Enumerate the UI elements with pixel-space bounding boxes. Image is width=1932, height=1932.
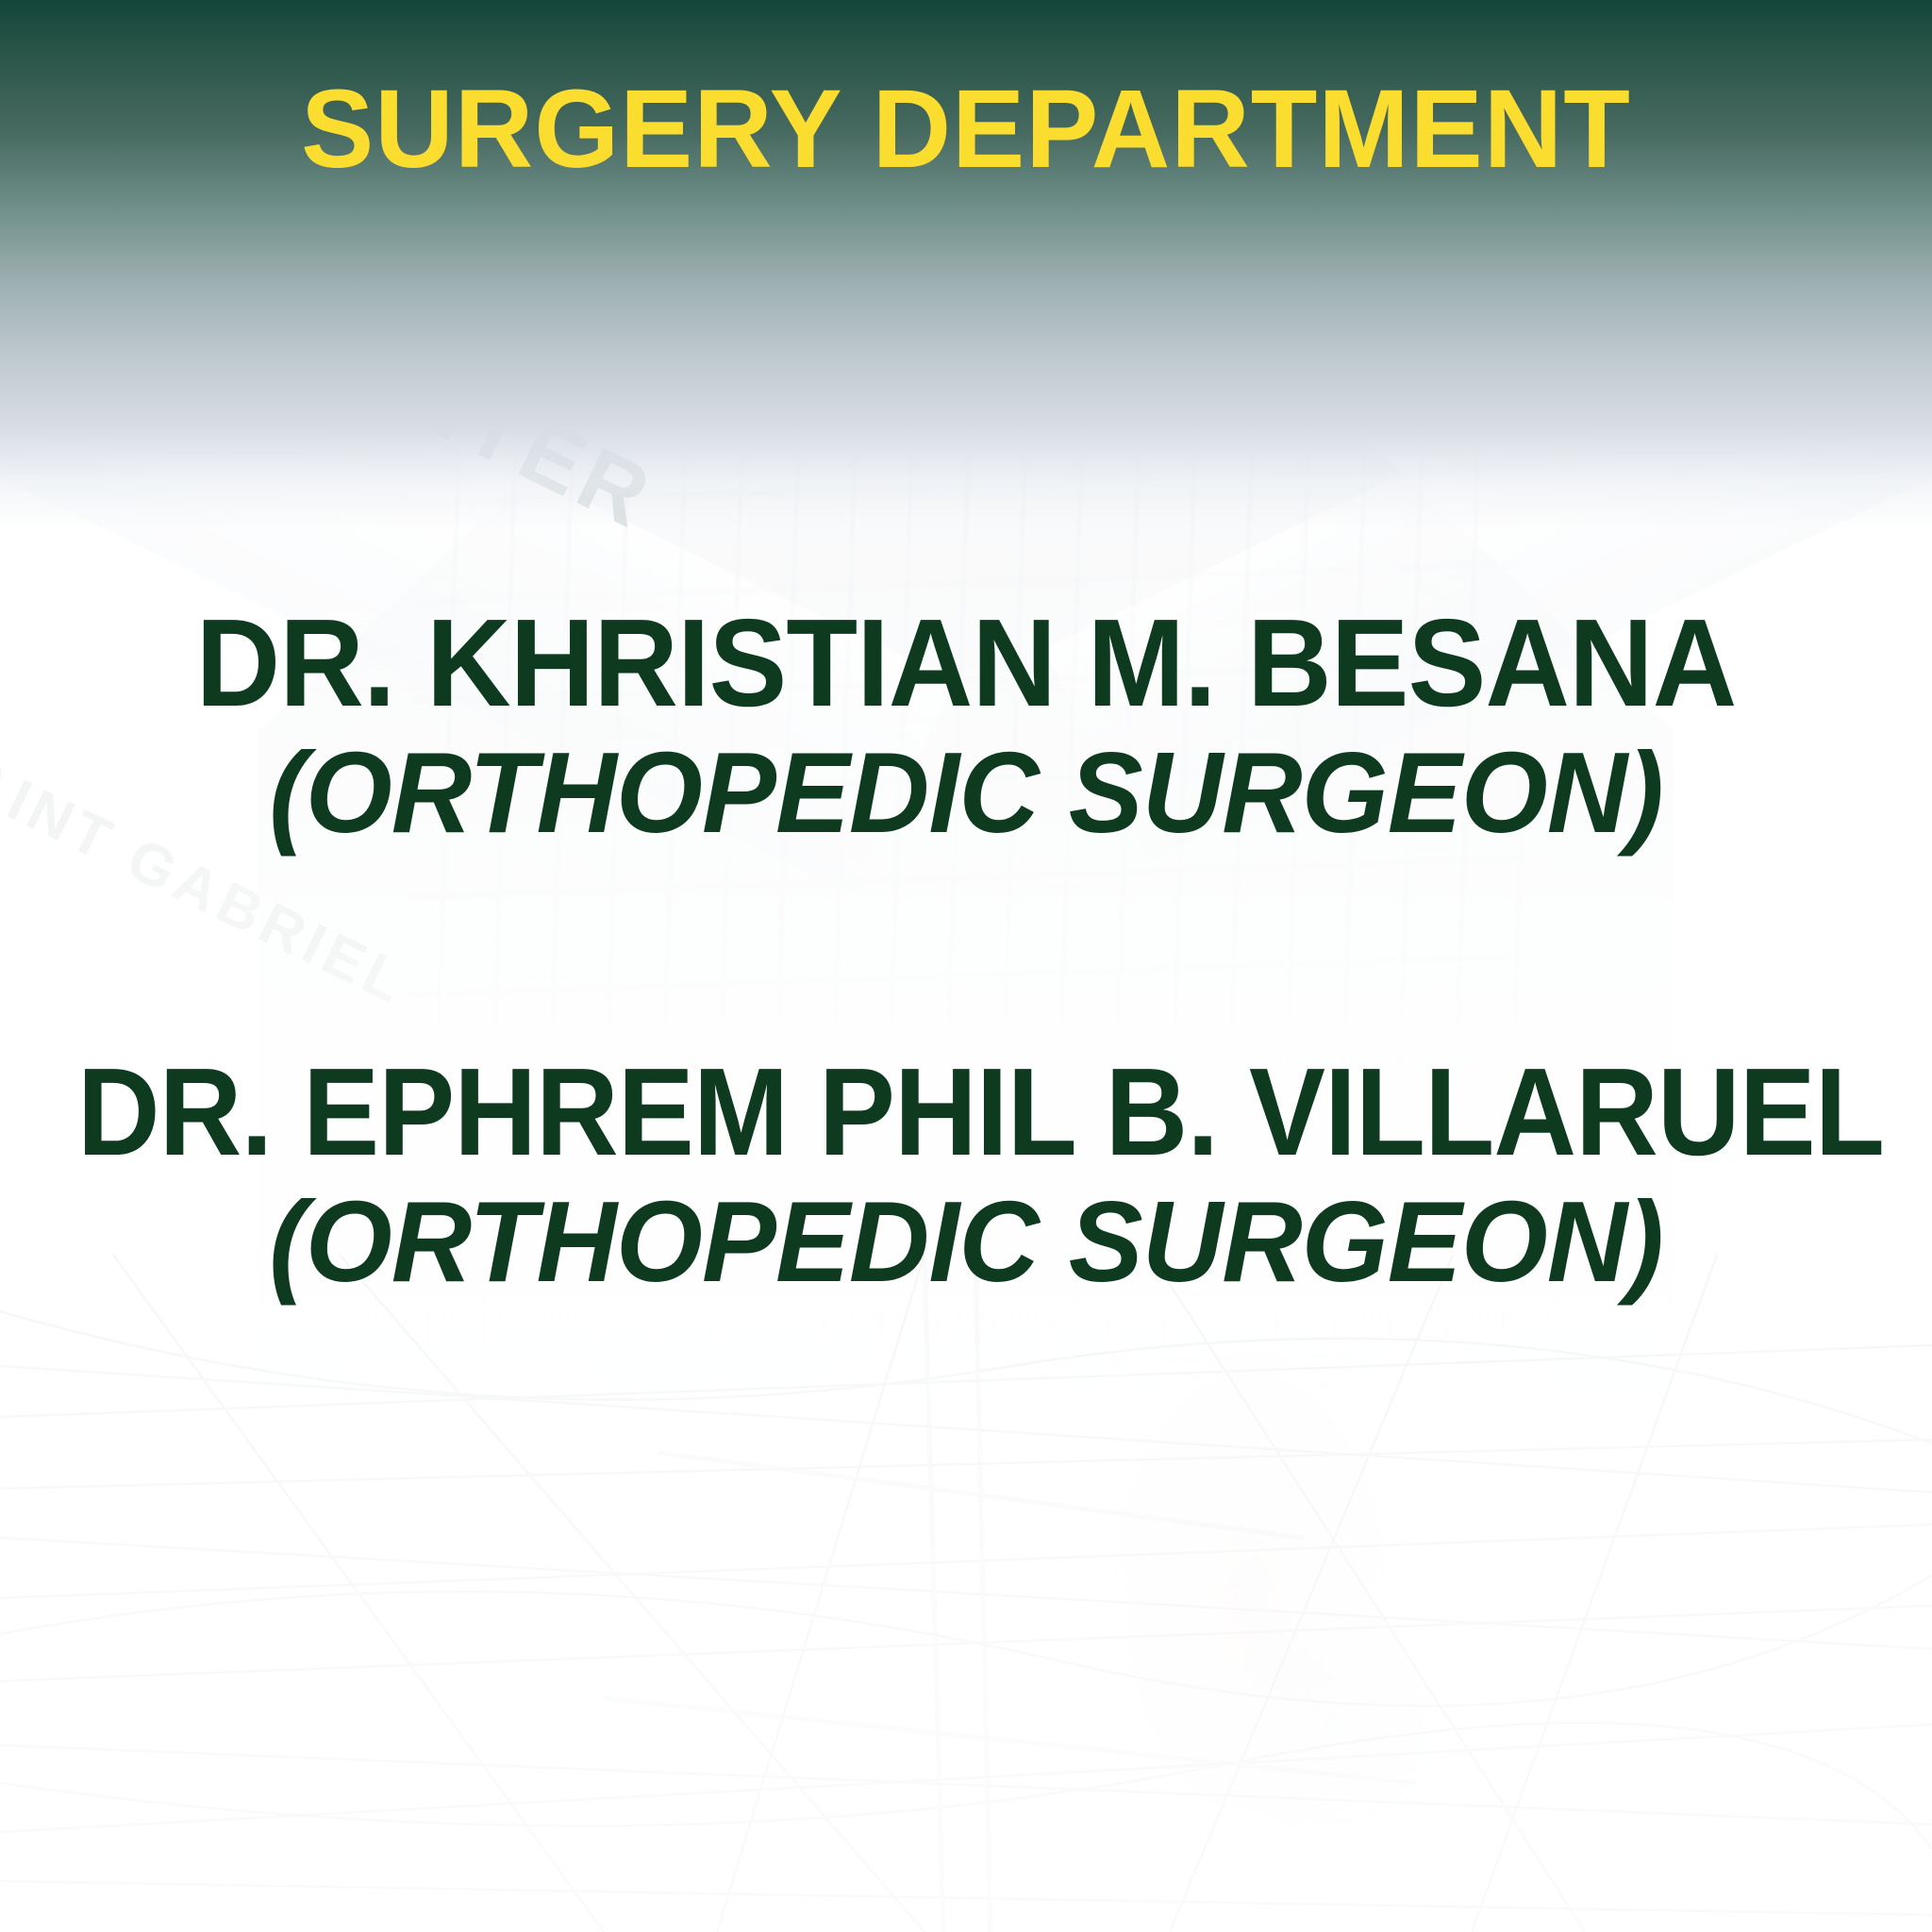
poster-content: SURGERY DEPARTMENT DR. KHRISTIAN M. BESA… xyxy=(0,0,1932,1932)
surgery-department-poster: CENTER SAINT GABRIEL SGMC xyxy=(0,0,1932,1932)
doctor-name: DR. EPHREM PHIL B. VILLARUEL xyxy=(77,1049,1855,1176)
doctor-entry-1: DR. KHRISTIAN M. BESANA (ORTHOPEDIC SURG… xyxy=(0,600,1932,855)
department-title: SURGERY DEPARTMENT xyxy=(19,74,1912,185)
doctor-name: DR. KHRISTIAN M. BESANA xyxy=(58,600,1874,727)
doctor-specialty: (ORTHOPEDIC SURGEON) xyxy=(29,1180,1904,1305)
doctor-specialty: (ORTHOPEDIC SURGEON) xyxy=(29,731,1904,856)
doctor-entry-2: DR. EPHREM PHIL B. VILLARUEL (ORTHOPEDIC… xyxy=(0,1049,1932,1304)
